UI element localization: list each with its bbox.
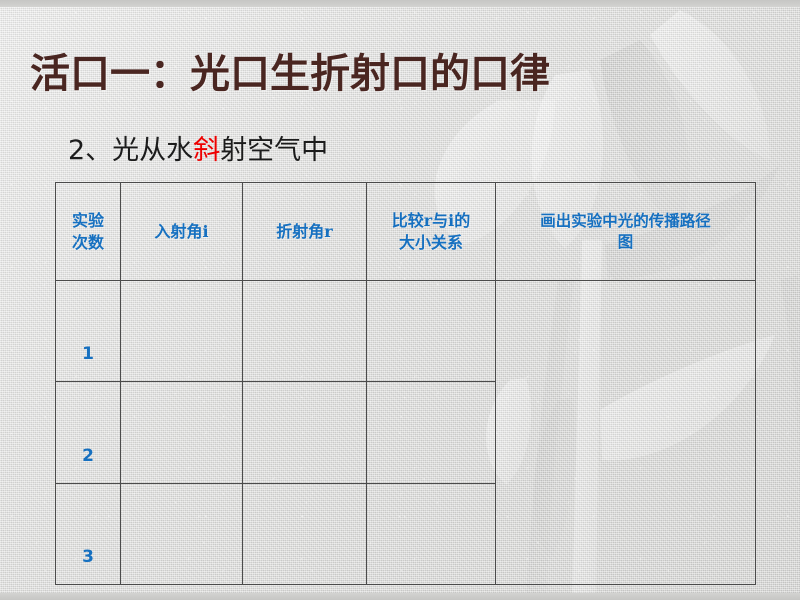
- cell-comparison[interactable]: [367, 382, 496, 483]
- row-number-label: 2: [56, 400, 120, 466]
- cell-row-number[interactable]: 1: [56, 281, 121, 382]
- cell-incident-angle[interactable]: [121, 281, 243, 382]
- header-cell-comparison: 比较r与i的 大小关系: [367, 183, 496, 281]
- table-header-row: 实验 次数 入射角i 折射角r 比较r与i的 大小关系 画出实验中光的传播路径 …: [56, 183, 756, 281]
- cell-light-path-drawing-area[interactable]: [496, 281, 756, 585]
- row-number-label: 1: [56, 298, 120, 364]
- cell-row-number[interactable]: 2: [56, 382, 121, 483]
- slide-title: 活口一：光口生折射口的口律: [30, 41, 550, 99]
- header-cell-experiment-count: 实验 次数: [56, 183, 121, 281]
- subtitle-highlight: 斜: [193, 135, 220, 166]
- subtitle-suffix: 射空气中: [220, 135, 328, 166]
- row-number-label: 3: [56, 501, 120, 567]
- header-line-2: 图: [496, 232, 755, 253]
- experiment-table-wrapper: 实验 次数 入射角i 折射角r 比较r与i的 大小关系 画出实验中光的传播路径 …: [55, 182, 755, 585]
- cell-refraction-angle[interactable]: [243, 382, 367, 483]
- slide-top-edge: [0, 0, 800, 7]
- slide-canvas: 活口一：光口生折射口的口律 2、光从水斜射空气中 实验 次数 入射角i 折射角r…: [0, 0, 800, 600]
- header-line-2: 大小关系: [367, 232, 495, 254]
- cell-refraction-angle[interactable]: [243, 483, 367, 584]
- header-cell-incident-angle: 入射角i: [121, 183, 243, 281]
- slide-bottom-edge: [0, 593, 800, 600]
- header-line-2: 次数: [56, 232, 120, 254]
- cell-incident-angle[interactable]: [121, 382, 243, 483]
- subtitle-prefix: 2、光从水: [68, 135, 193, 166]
- header-line-1: 实验: [56, 210, 120, 232]
- table-row: 1: [56, 281, 756, 382]
- header-cell-light-path-diagram: 画出实验中光的传播路径 图: [496, 183, 756, 281]
- cell-comparison[interactable]: [367, 483, 496, 584]
- cell-row-number[interactable]: 3: [56, 483, 121, 584]
- header-line-1: 比较r与i的: [367, 210, 495, 232]
- cell-comparison[interactable]: [367, 281, 496, 382]
- cell-incident-angle[interactable]: [121, 483, 243, 584]
- header-cell-refraction-angle: 折射角r: [243, 183, 367, 281]
- slide-subtitle: 2、光从水斜射空气中: [68, 128, 328, 167]
- header-line-1: 画出实验中光的传播路径: [496, 211, 755, 232]
- experiment-table: 实验 次数 入射角i 折射角r 比较r与i的 大小关系 画出实验中光的传播路径 …: [55, 182, 756, 585]
- cell-refraction-angle[interactable]: [243, 281, 367, 382]
